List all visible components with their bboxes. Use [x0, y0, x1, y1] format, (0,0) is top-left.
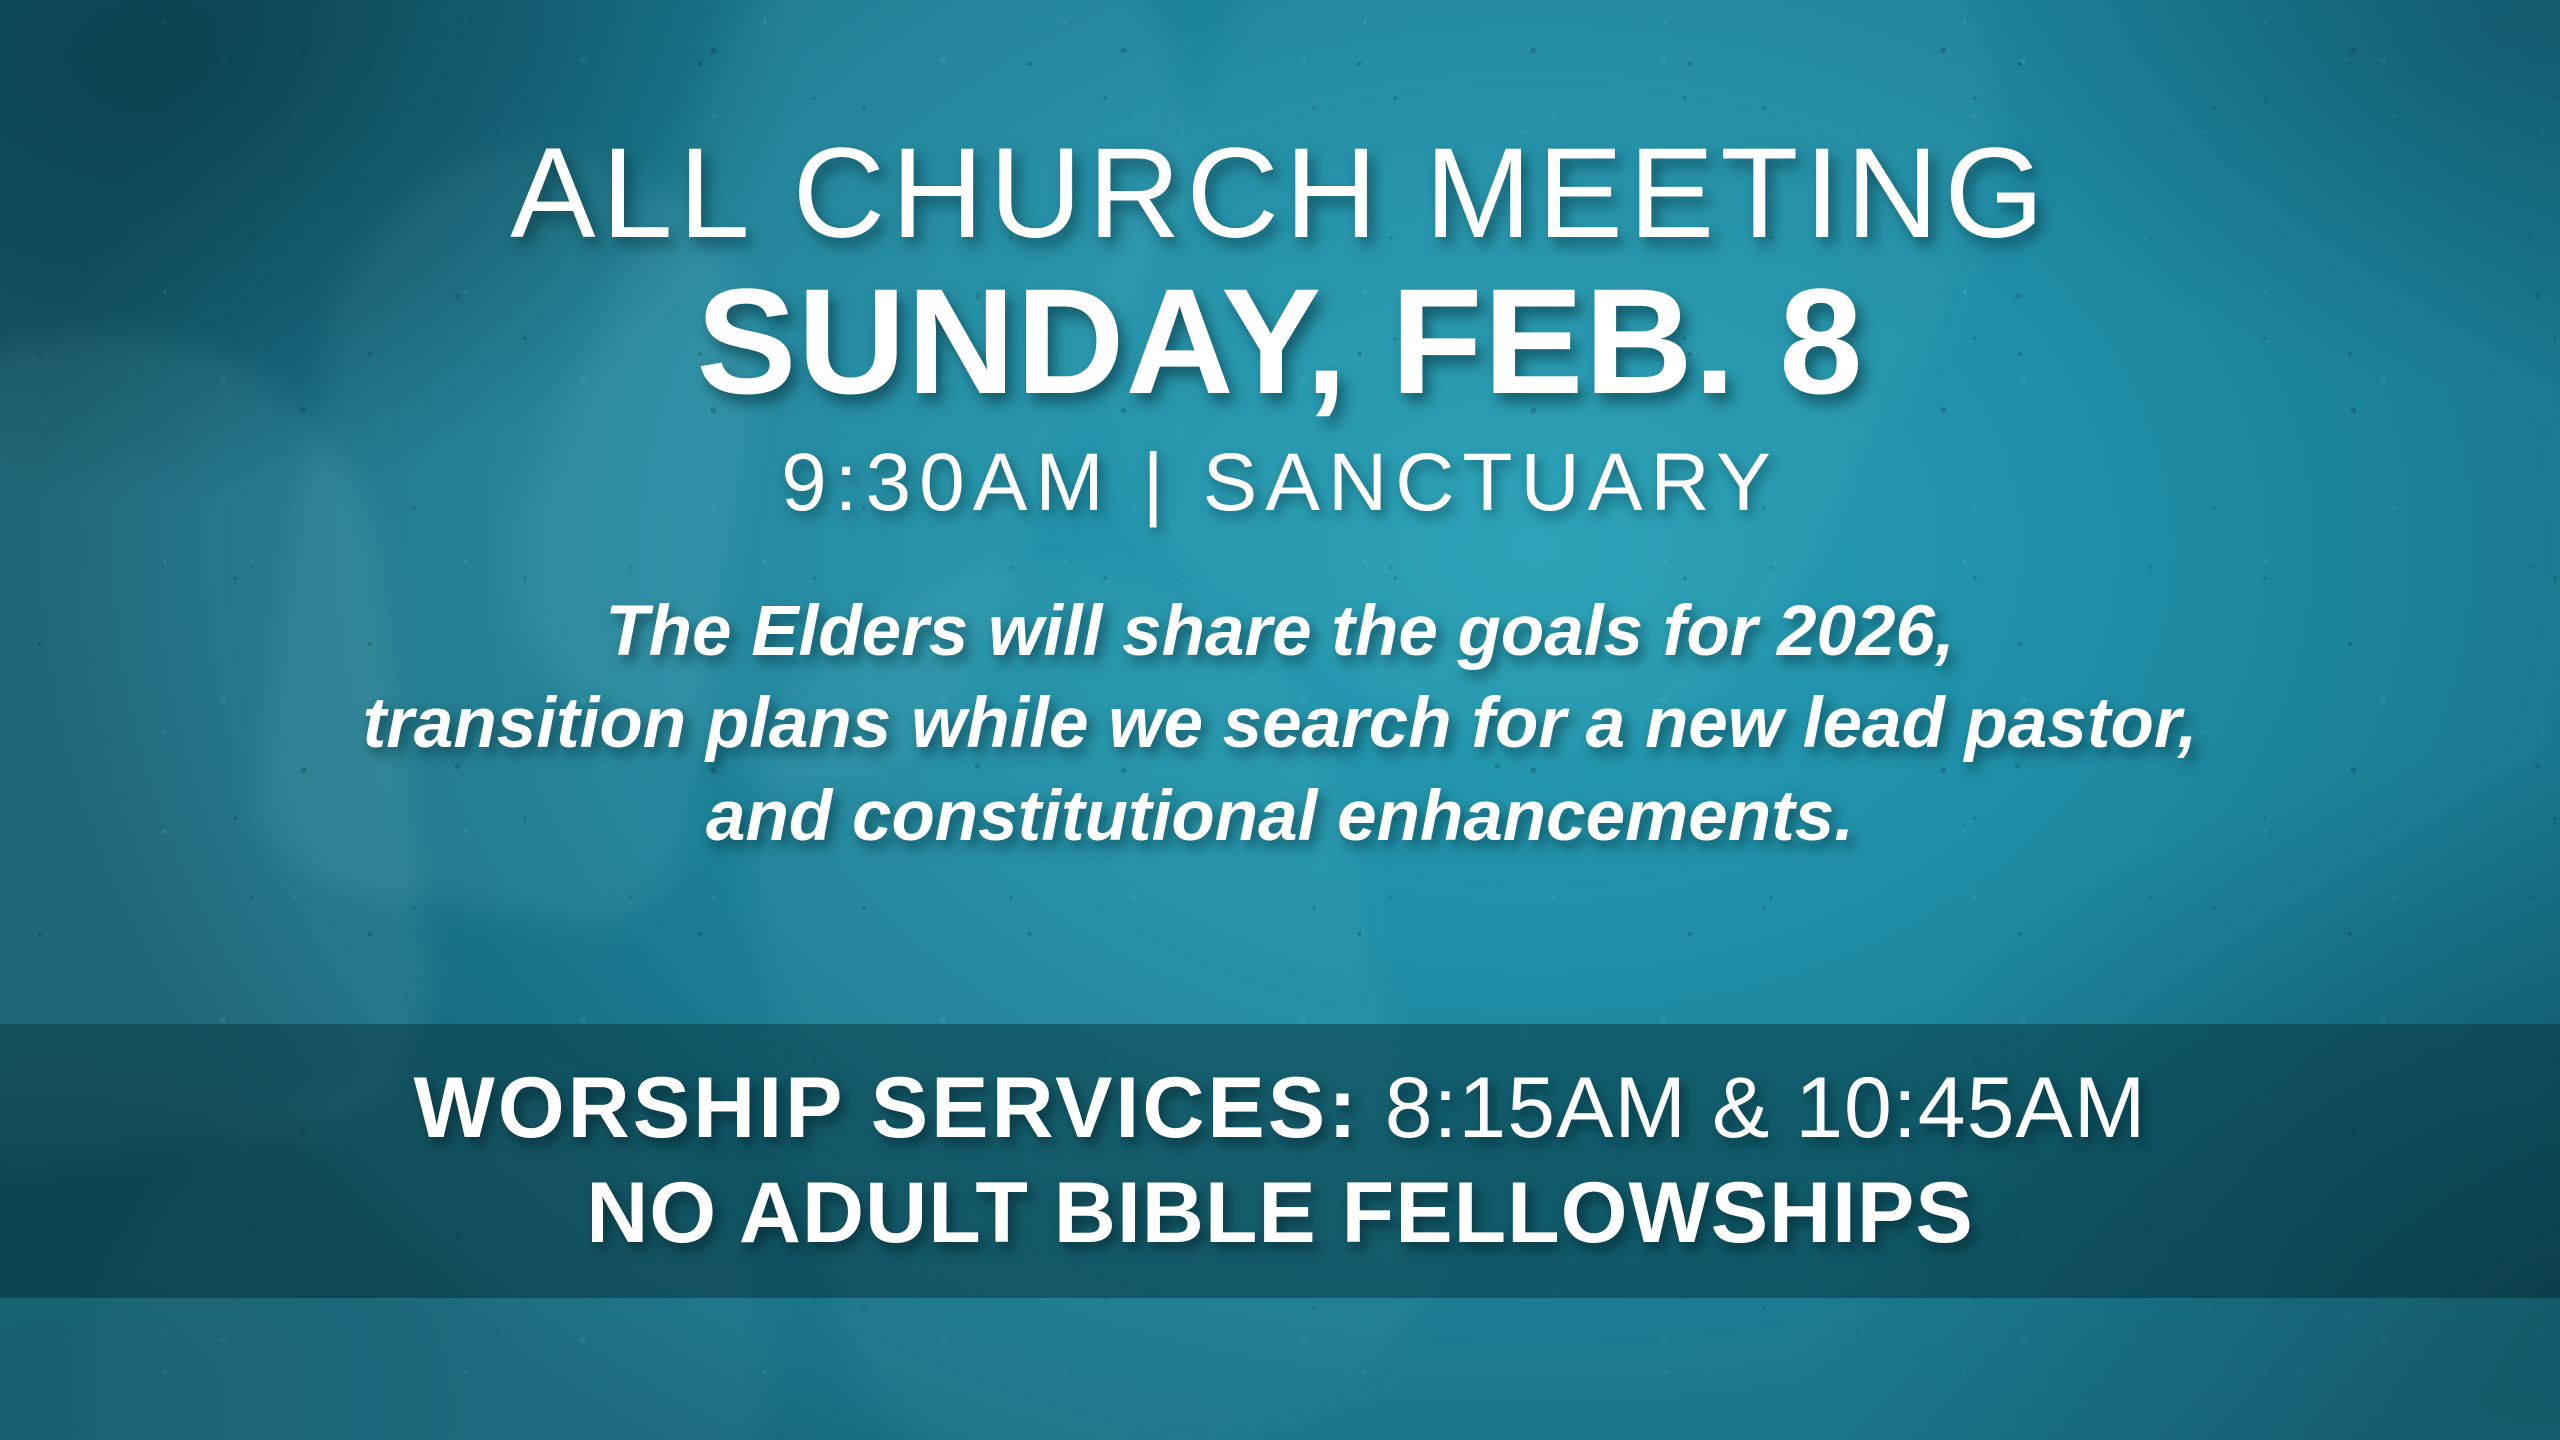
description-line-1: The Elders will share the goals for 2026…: [0, 586, 2560, 678]
event-time-location: 9:30AM | SANCTUARY: [0, 442, 2560, 524]
description-line-2: transition plans while we search for a n…: [0, 678, 2560, 770]
worship-services-line: WORSHIP SERVICES: 8:15AM & 10:45AM: [414, 1062, 2147, 1155]
event-date: SUNDAY, FEB. 8: [0, 266, 2560, 416]
worship-services-label: WORSHIP SERVICES:: [414, 1060, 1360, 1156]
headline-block: ALL CHURCH MEETING SUNDAY, FEB. 8 9:30AM…: [0, 0, 2560, 863]
description-line-3: and constitutional enhancements.: [0, 771, 2560, 863]
event-title: ALL CHURCH MEETING: [0, 130, 2560, 258]
bottom-strip: [0, 1298, 2560, 1440]
worship-services-times: 8:15AM & 10:45AM: [1360, 1060, 2147, 1156]
announcement-slide: ALL CHURCH MEETING SUNDAY, FEB. 8 9:30AM…: [0, 0, 2560, 1440]
event-description: The Elders will share the goals for 2026…: [0, 586, 2560, 863]
no-abf-note: NO ADULT BIBLE FELLOWSHIPS: [586, 1167, 1974, 1260]
worship-services-banner: WORSHIP SERVICES: 8:15AM & 10:45AM NO AD…: [0, 1024, 2560, 1298]
